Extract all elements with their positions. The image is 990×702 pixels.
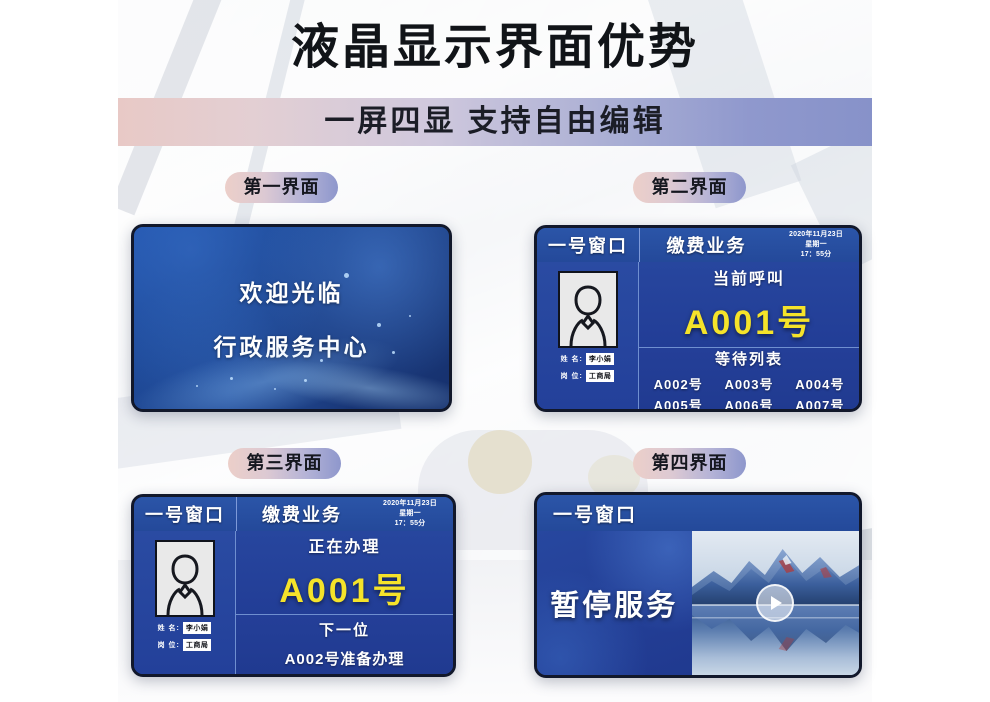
window-name-2: 一号窗口 — [537, 228, 640, 262]
staff-name-value-2: 李小娟 — [586, 353, 615, 365]
time-text-3: 17：55分 — [395, 519, 426, 529]
monitor-screen-1: 欢迎光临 行政服务中心 — [131, 224, 452, 412]
business-name-3: 缴费业务 — [237, 497, 367, 531]
right-white-margin — [872, 0, 990, 702]
next-title-3: 下一位 — [319, 619, 370, 640]
avatar — [558, 271, 618, 348]
weekday-text-3: 星期一 — [399, 509, 421, 519]
welcome-screen: 欢迎光临 行政服务中心 — [134, 227, 449, 409]
paused-header-4: 一号窗口 — [537, 495, 859, 532]
waiting-item: A004号 — [789, 374, 850, 393]
waiting-title-2: 等待列表 — [715, 348, 783, 369]
waiting-item: A003号 — [719, 374, 780, 393]
play-icon[interactable] — [756, 584, 794, 622]
left-white-margin — [0, 0, 118, 702]
queue-right-3: 正在办理 A001号 下一位 A002号准备办理 — [236, 531, 453, 674]
staff-panel-3: 姓 名: 李小娟 岗 位: 工商局 — [134, 531, 236, 674]
clock-block-3: 2020年11月23日 星期一 17：55分 — [367, 497, 453, 531]
staff-post-key-2: 岗 位: — [561, 371, 583, 381]
subtitle-text: 一屏四显 支持自由编辑 — [118, 98, 872, 146]
waiting-item: A005号 — [648, 395, 709, 412]
queue-right-2: 当前呼叫 A001号 等待列表 A002号 A003号 A004号 A005号 … — [639, 262, 859, 409]
avatar — [155, 540, 215, 617]
staff-name-row-3: 姓 名: 李小娟 — [158, 622, 212, 634]
staff-post-value-2: 工商局 — [586, 370, 615, 382]
time-text-2: 17：55分 — [801, 250, 832, 260]
welcome-line-1: 欢迎光临 — [240, 274, 344, 308]
queue-body-3: 姓 名: 李小娟 岗 位: 工商局 正在办理 A001号 下一位 A002号准备… — [134, 531, 453, 674]
staff-name-key-3: 姓 名: — [158, 623, 180, 633]
next-line-3: A002号准备办理 — [285, 648, 405, 669]
monitor-screen-3: 一号窗口 缴费业务 2020年11月23日 星期一 17：55分 姓 名: — [131, 494, 456, 677]
paused-status-area: 暂停服务 — [537, 531, 692, 675]
date-text-3: 2020年11月23日 — [383, 499, 437, 509]
monitor-screen-2: 一号窗口 缴费业务 2020年11月23日 星期一 17：55分 姓 名: — [534, 225, 862, 412]
page-title: 液晶显示界面优势 — [0, 18, 990, 78]
calling-number-2: A001号 — [684, 295, 814, 344]
calling-label-2: 当前呼叫 — [713, 265, 785, 289]
next-section-3: 下一位 A002号准备办理 — [236, 615, 453, 674]
welcome-line-2: 行政服务中心 — [214, 328, 370, 362]
staff-post-row-3: 岗 位: 工商局 — [158, 639, 212, 651]
business-name-2: 缴费业务 — [640, 228, 773, 262]
staff-name-row-2: 姓 名: 李小娟 — [561, 353, 615, 365]
waiting-grid-2: A002号 A003号 A004号 A005号 A006号 A007号 — [648, 374, 850, 412]
staff-post-key-3: 岗 位: — [158, 640, 180, 650]
queue-body-2: 姓 名: 李小娟 岗 位: 工商局 当前呼叫 A001号 等待列表 A002号 — [537, 262, 859, 409]
waiting-section-2: 等待列表 A002号 A003号 A004号 A005号 A006号 A007号 — [639, 348, 859, 412]
serving-section-3: 正在办理 A001号 — [236, 531, 453, 615]
monitor-screen-4: 一号窗口 暂停服务 — [534, 492, 862, 678]
window-name-3: 一号窗口 — [134, 497, 237, 531]
window-name-4: 一号窗口 — [537, 500, 637, 527]
clock-block-2: 2020年11月23日 星期一 17：55分 — [773, 228, 859, 262]
staff-panel-2: 姓 名: 李小娟 岗 位: 工商局 — [537, 262, 639, 409]
staff-name-value-3: 李小娟 — [183, 622, 212, 634]
staff-name-key-2: 姓 名: — [561, 354, 583, 364]
staff-post-value-3: 工商局 — [183, 639, 212, 651]
paused-body-4: 暂停服务 — [537, 531, 859, 675]
panel-label-4: 第四界面 — [633, 448, 746, 479]
calling-section-2: 当前呼叫 A001号 — [639, 262, 859, 348]
panel-label-3: 第三界面 — [228, 448, 341, 479]
waiting-item: A002号 — [648, 374, 709, 393]
weekday-text-2: 星期一 — [805, 240, 827, 250]
video-area — [692, 531, 859, 675]
poster-root: 液晶显示界面优势 一屏四显 支持自由编辑 第一界面 第二界面 第三界面 第四界面… — [0, 0, 990, 702]
paused-status-text: 暂停服务 — [550, 582, 678, 624]
queue-header-3: 一号窗口 缴费业务 2020年11月23日 星期一 17：55分 — [134, 497, 453, 532]
waiting-item: A007号 — [789, 395, 850, 412]
waiting-item: A006号 — [719, 395, 780, 412]
panel-label-1: 第一界面 — [225, 172, 338, 203]
serving-label-3: 正在办理 — [308, 533, 380, 557]
serving-number-3: A001号 — [279, 563, 409, 612]
panel-label-2: 第二界面 — [633, 172, 746, 203]
subtitle-band: 一屏四显 支持自由编辑 — [118, 98, 872, 146]
staff-post-row-2: 岗 位: 工商局 — [561, 370, 615, 382]
date-text-2: 2020年11月23日 — [789, 230, 843, 240]
queue-header-2: 一号窗口 缴费业务 2020年11月23日 星期一 17：55分 — [537, 228, 859, 263]
